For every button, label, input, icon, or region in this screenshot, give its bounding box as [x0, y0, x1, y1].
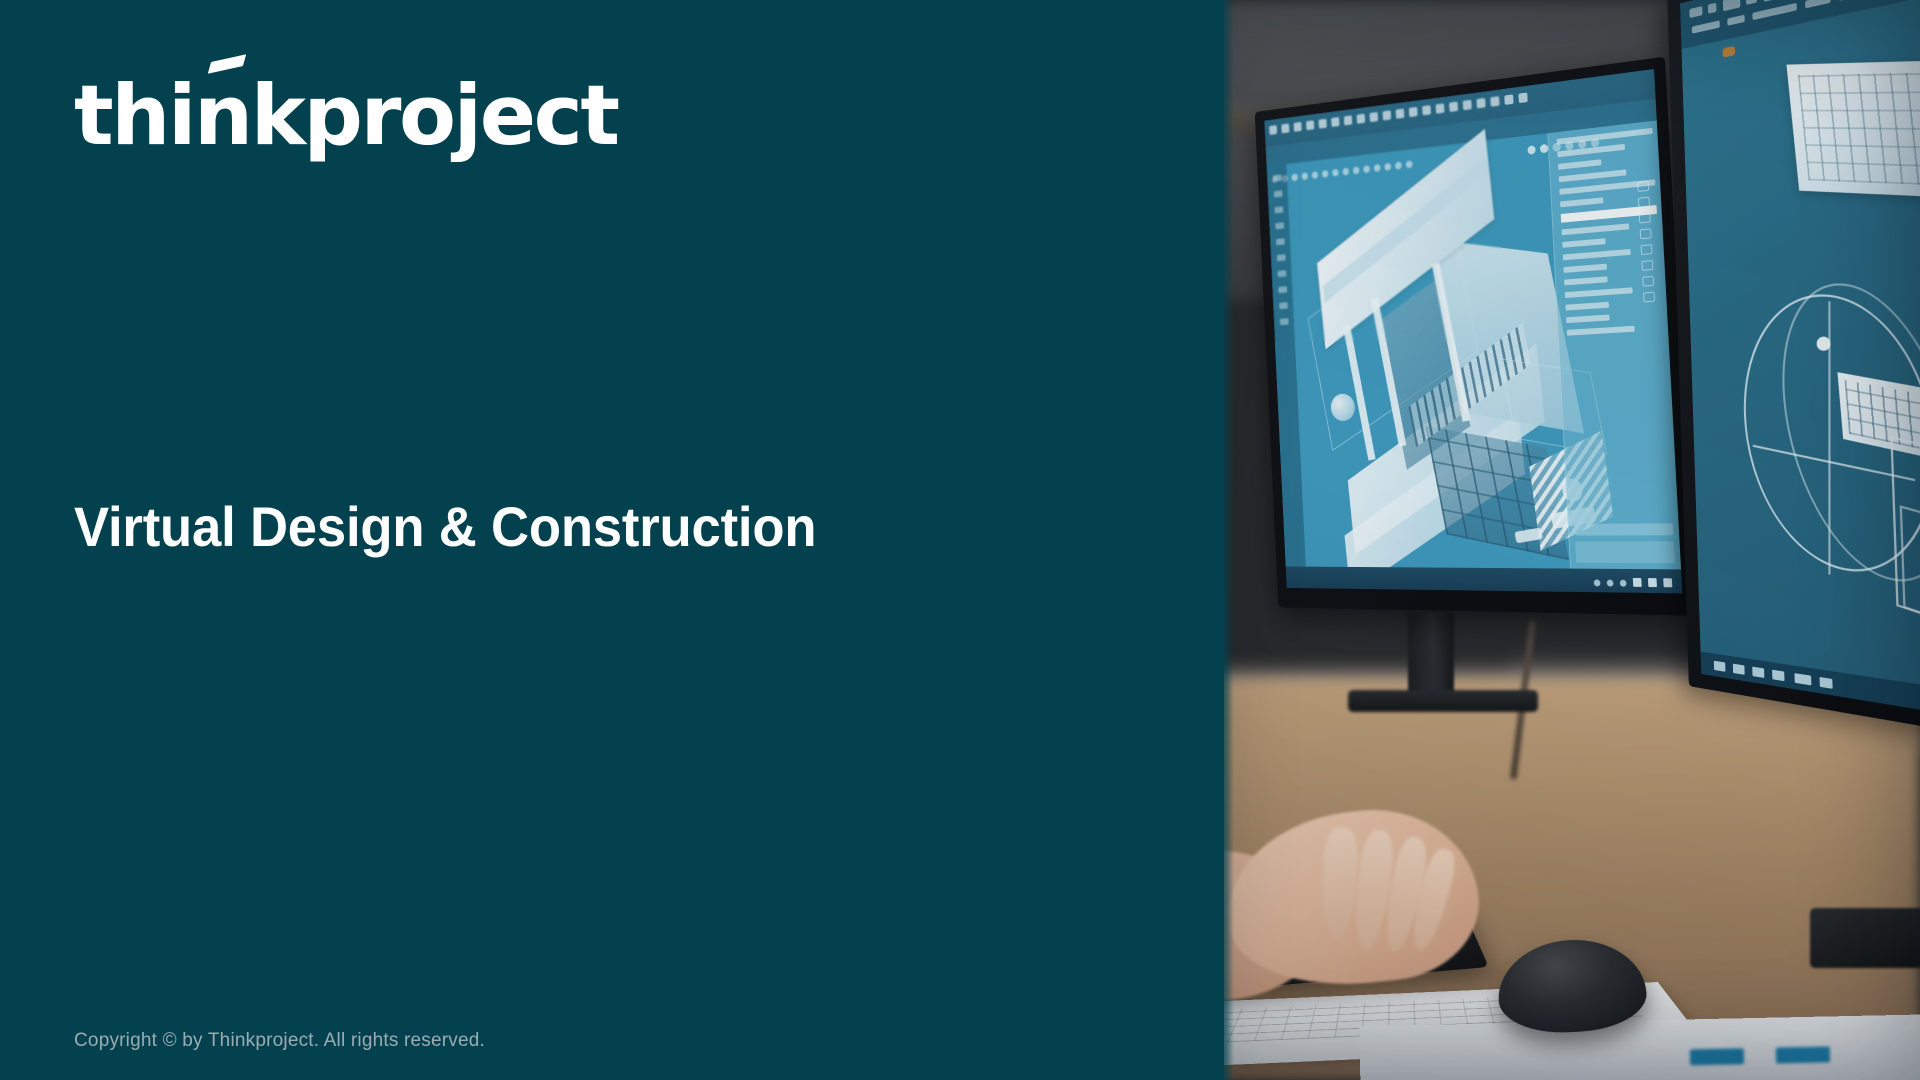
- hero-photo: [1180, 0, 1920, 1080]
- cad-toolbar-2: [1680, 0, 1920, 49]
- monitor-2-screen: [1680, 0, 1920, 723]
- panel-footer-block: [1575, 541, 1675, 563]
- logo-wordmark: thinkproject: [74, 74, 618, 157]
- monitor-2-bezel: [1667, 0, 1920, 742]
- status-dot-orange: [1722, 46, 1735, 58]
- panel-row: [1564, 276, 1607, 285]
- panel-row: [1567, 326, 1635, 336]
- wireframe-box-secondary: [1900, 505, 1920, 648]
- panel-row: [1559, 169, 1626, 182]
- panel-row: [1557, 128, 1653, 145]
- panel-row: [1565, 302, 1608, 311]
- cad-properties-panel: [1547, 120, 1681, 569]
- tablet-device: [1810, 908, 1920, 968]
- taskbar-1: [1286, 566, 1683, 593]
- monitor-1: [1255, 57, 1696, 616]
- presentation-slide: thinkproject Virtual Design & Constructi…: [0, 0, 1920, 1080]
- panel-row: [1563, 249, 1630, 260]
- panel-row: [1560, 197, 1603, 207]
- monitor-2: [1667, 0, 1920, 742]
- thinkproject-logo: thinkproject: [74, 74, 618, 157]
- panel-row: [1565, 287, 1632, 298]
- panel-row: [1561, 223, 1628, 235]
- monitor-1-bezel: [1255, 57, 1696, 616]
- blueprint-blue-marks: [1690, 1046, 1830, 1065]
- monitor-stand-base: [1348, 690, 1538, 712]
- page-title: Virtual Design & Construction: [74, 497, 816, 556]
- cad-thumbnail-preview: [1786, 60, 1920, 200]
- copyright-notice: Copyright © by Thinkproject. All rights …: [74, 1030, 485, 1052]
- panel-row: [1563, 264, 1606, 273]
- taskbar-icons: [1594, 578, 1673, 588]
- panel-row: [1566, 315, 1609, 324]
- finger: [1319, 827, 1359, 941]
- panel-row: [1558, 159, 1601, 169]
- panel-row: [1557, 144, 1624, 157]
- panel-row: [1562, 238, 1605, 247]
- blueprint-paper-secondary: [1359, 1014, 1920, 1080]
- monitor-stand-neck: [1408, 612, 1454, 698]
- thumbnail-grid: [1798, 72, 1920, 187]
- monitor-1-screen: [1264, 69, 1682, 593]
- panel-layer-icons: [1637, 181, 1659, 309]
- panel-footer-bar: [1574, 523, 1673, 535]
